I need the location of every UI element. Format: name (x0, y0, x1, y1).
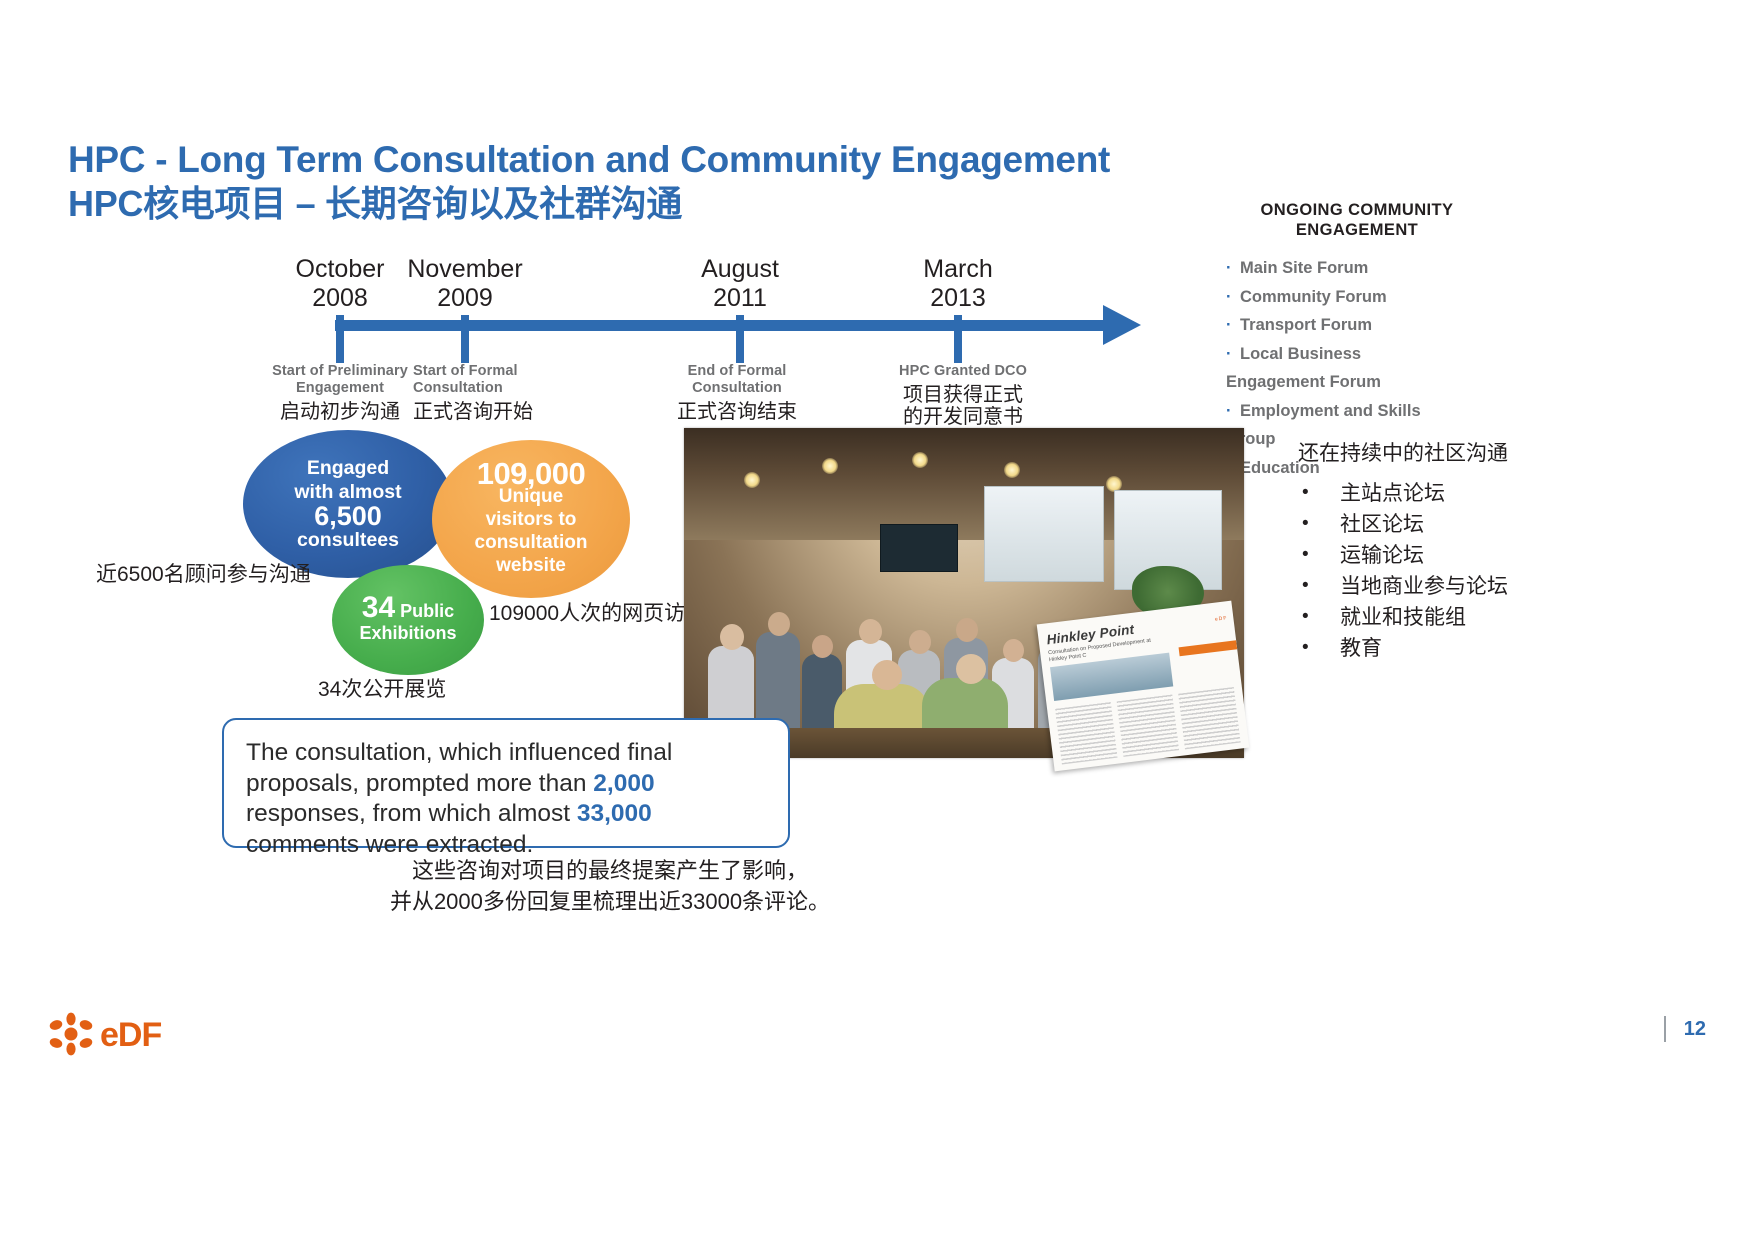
caption-consultees-chinese: 近6500名顾问参与沟通 (96, 558, 311, 588)
ongoing-title-line2: ENGAGEMENT (1226, 220, 1488, 240)
stat-orange-line5: website (475, 554, 588, 577)
photo-person-head (956, 654, 986, 684)
timeline-node-3-labels: End of Formal Consultation 正式咨询结束 (632, 363, 842, 425)
cn-list-item-community-forum: • 社区论坛 (1298, 509, 1598, 540)
consultation-quote-callout: The consultation, which influenced final… (222, 718, 790, 848)
cn-list-item-employment-skills: • 就业和技能组 (1298, 602, 1598, 633)
quote-part2: responses, from which almost (246, 800, 577, 827)
photo-person-head (956, 618, 978, 642)
title-line-english: HPC - Long Term Consultation and Communi… (68, 138, 1110, 182)
page-number-divider (1664, 1016, 1666, 1042)
photo-lamp-icon (912, 452, 928, 468)
stat-oval-public-exhibitions: 34 Public Exhibitions (332, 565, 484, 675)
consultation-leaflet: Hinkley Point Consultation on Proposed D… (1037, 601, 1250, 772)
stat-blue-value: 6,500 (294, 504, 401, 528)
leaflet-edf-logo: eDF (1215, 615, 1228, 622)
timeline-node-2-en-line2: Consultation (413, 380, 623, 397)
timeline-node-3-cn: 正式咨询结束 (632, 399, 842, 425)
timeline-node-4-year: 2013 (853, 284, 1063, 313)
leaflet-text-column (1055, 702, 1117, 764)
timeline-axis-bar (335, 320, 1105, 331)
stat-orange-line3: visitors to (475, 508, 588, 531)
ongoing-chinese-list: • 主站点论坛 • 社区论坛 • 运输论坛 • 当地商业参与论坛 • 就业和技能… (1298, 478, 1598, 664)
ongoing-engagement-chinese-panel: 还在持续中的社区沟通 • 主站点论坛 • 社区论坛 • 运输论坛 • 当地商业参… (1298, 440, 1598, 664)
timeline-node-3-stem (736, 315, 744, 363)
timeline-node-2-cn: 正式咨询开始 (413, 399, 623, 425)
photo-display-board (880, 524, 958, 572)
quote-chinese-line2: 并从2000多份回复里梳理出近33000条评论。 (300, 886, 920, 917)
photo-lamp-icon (1004, 462, 1020, 478)
timeline-node-2: November 2009 (360, 255, 570, 313)
cn-list-item-main-site-forum: • 主站点论坛 (1298, 478, 1598, 509)
bullet-dot-icon: • (1302, 477, 1309, 508)
timeline-node-4-stem (954, 315, 962, 363)
timeline-node-4-labels: HPC Granted DCO 项目获得正式 的开发同意书 (858, 363, 1068, 430)
bullet-dot-icon: · (1226, 397, 1232, 426)
consultation-quote-text: The consultation, which influenced final… (224, 720, 788, 860)
stat-green-word: Public (400, 601, 454, 621)
page-number: 12 (1684, 1018, 1706, 1041)
edf-logo-text: eDF (100, 1016, 161, 1055)
cn-list-item-label: 教育 (1340, 637, 1382, 660)
caption-public-exhibitions-chinese: 34次公开展览 (318, 673, 446, 703)
cn-list-item-transport-forum: • 运输论坛 (1298, 540, 1598, 571)
ongoing-item-label: Employment and Skills (1240, 402, 1421, 420)
stat-green-line2: Exhibitions (359, 622, 456, 644)
cn-list-item-label: 当地商业参与论坛 (1340, 575, 1508, 598)
cn-list-item-label: 运输论坛 (1340, 544, 1424, 567)
caption-website-visitors-chinese: 109000人次的网页访问 (489, 597, 706, 627)
stat-oval-website-visitors: 109,000 Unique visitors to consultation … (432, 440, 630, 598)
consultation-quote-chinese: 这些咨询对项目的最终提案产生了影响， 并从2000多份回复里梳理出近33000条… (300, 855, 920, 917)
ongoing-item-label: Local Business (1240, 345, 1361, 363)
ongoing-item-label: Community Forum (1240, 288, 1387, 306)
timeline-node-2-en-line1: Start of Formal (413, 363, 623, 380)
quote-part3: comments were extracted. (246, 831, 533, 858)
leaflet-text-column (1117, 694, 1179, 756)
stat-green-row: 34 Public (359, 597, 456, 622)
timeline-node-4: March 2013 (853, 255, 1063, 313)
stat-blue-line4: consultees (294, 528, 401, 552)
edf-flower-icon (45, 1012, 97, 1056)
quote-chinese-line1: 这些咨询对项目的最终提案产生了影响， (300, 855, 920, 886)
bullet-dot-icon: • (1302, 508, 1309, 539)
leaflet-orange-band (1179, 640, 1238, 656)
stat-oval-website-visitors-text: 109,000 Unique visitors to consultation … (475, 462, 588, 577)
photo-person-head (859, 619, 882, 644)
quote-highlight-comments: 33,000 (577, 800, 652, 827)
bullet-dot-icon: • (1302, 539, 1309, 570)
stat-oval-consultees-text: Engaged with almost 6,500 consultees (294, 456, 401, 552)
ongoing-item-label-cont: Engagement Forum (1226, 368, 1488, 397)
ongoing-item-label: Main Site Forum (1240, 259, 1368, 277)
bullet-dot-icon: • (1302, 601, 1309, 632)
timeline-node-4-cn-line2: 的开发同意书 (858, 404, 1068, 430)
leaflet-text-column (1178, 687, 1240, 749)
cn-list-item-label: 就业和技能组 (1340, 606, 1466, 629)
cn-list-item-label: 社区论坛 (1340, 513, 1424, 536)
photo-lamp-icon (744, 472, 760, 488)
ongoing-item-transport-forum: · Transport Forum (1226, 311, 1488, 340)
edf-logo: eDF (45, 1012, 190, 1057)
photo-person-head (812, 635, 833, 658)
bullet-dot-icon: • (1302, 570, 1309, 601)
ongoing-engagement-title: ONGOING COMMUNITY ENGAGEMENT (1226, 200, 1488, 240)
photo-person-head (1003, 639, 1024, 662)
cn-list-item-label: 主站点论坛 (1340, 482, 1445, 505)
bullet-dot-icon: · (1226, 254, 1232, 283)
timeline-node-2-month: November (360, 255, 570, 284)
timeline-node-3-en-line1: End of Formal (632, 363, 842, 380)
timeline-graphic: October 2008 Start of Preliminary Engage… (250, 255, 1250, 440)
stat-orange-line4: consultation (475, 531, 588, 554)
stat-oval-public-exhibitions-text: 34 Public Exhibitions (359, 597, 456, 644)
stat-green-value: 34 (362, 591, 395, 624)
quote-highlight-responses: 2,000 (593, 770, 654, 797)
timeline-node-4-en-line1: HPC Granted DCO (858, 363, 1068, 380)
ongoing-chinese-heading: 还在持续中的社区沟通 (1298, 440, 1598, 468)
ongoing-item-community-forum: · Community Forum (1226, 283, 1488, 312)
ongoing-item-label: Transport Forum (1240, 316, 1372, 334)
timeline-node-2-year: 2009 (360, 284, 570, 313)
timeline-node-1-stem (336, 315, 344, 363)
timeline-arrow-head (1103, 305, 1141, 345)
ongoing-item-main-site-forum: · Main Site Forum (1226, 254, 1488, 283)
bullet-dot-icon: · (1226, 340, 1232, 369)
photo-person-head (872, 660, 902, 690)
timeline-node-3-month: August (635, 255, 845, 284)
stat-orange-value: 109,000 (475, 462, 588, 485)
timeline-node-3-year: 2011 (635, 284, 845, 313)
stat-blue-line1: Engaged (294, 456, 401, 480)
ongoing-item-local-business-engagement-forum: · Local Business Engagement Forum (1226, 340, 1488, 397)
bullet-dot-icon: • (1302, 632, 1309, 663)
photo-person-head (768, 612, 790, 636)
timeline-node-3: August 2011 (635, 255, 845, 313)
stat-oval-consultees: Engaged with almost 6,500 consultees (243, 430, 453, 578)
timeline-node-2-stem (461, 315, 469, 363)
ongoing-title-line1: ONGOING COMMUNITY (1226, 200, 1488, 220)
timeline-node-2-labels: Start of Formal Consultation 正式咨询开始 (413, 363, 623, 425)
cn-list-item-education: • 教育 (1298, 633, 1598, 664)
photo-person-head (909, 630, 931, 654)
bullet-dot-icon: · (1226, 311, 1232, 340)
photo-window (984, 486, 1104, 582)
cn-list-item-local-business-forum: • 当地商业参与论坛 (1298, 571, 1598, 602)
page-title: HPC - Long Term Consultation and Communi… (68, 138, 1110, 226)
timeline-node-3-en-line2: Consultation (632, 380, 842, 397)
timeline-node-4-month: March (853, 255, 1063, 284)
photo-lamp-icon (822, 458, 838, 474)
title-line-chinese: HPC核电项目 – 长期咨询以及社群沟通 (68, 182, 1110, 226)
bullet-dot-icon: · (1226, 283, 1232, 312)
photo-person-head (720, 624, 744, 650)
